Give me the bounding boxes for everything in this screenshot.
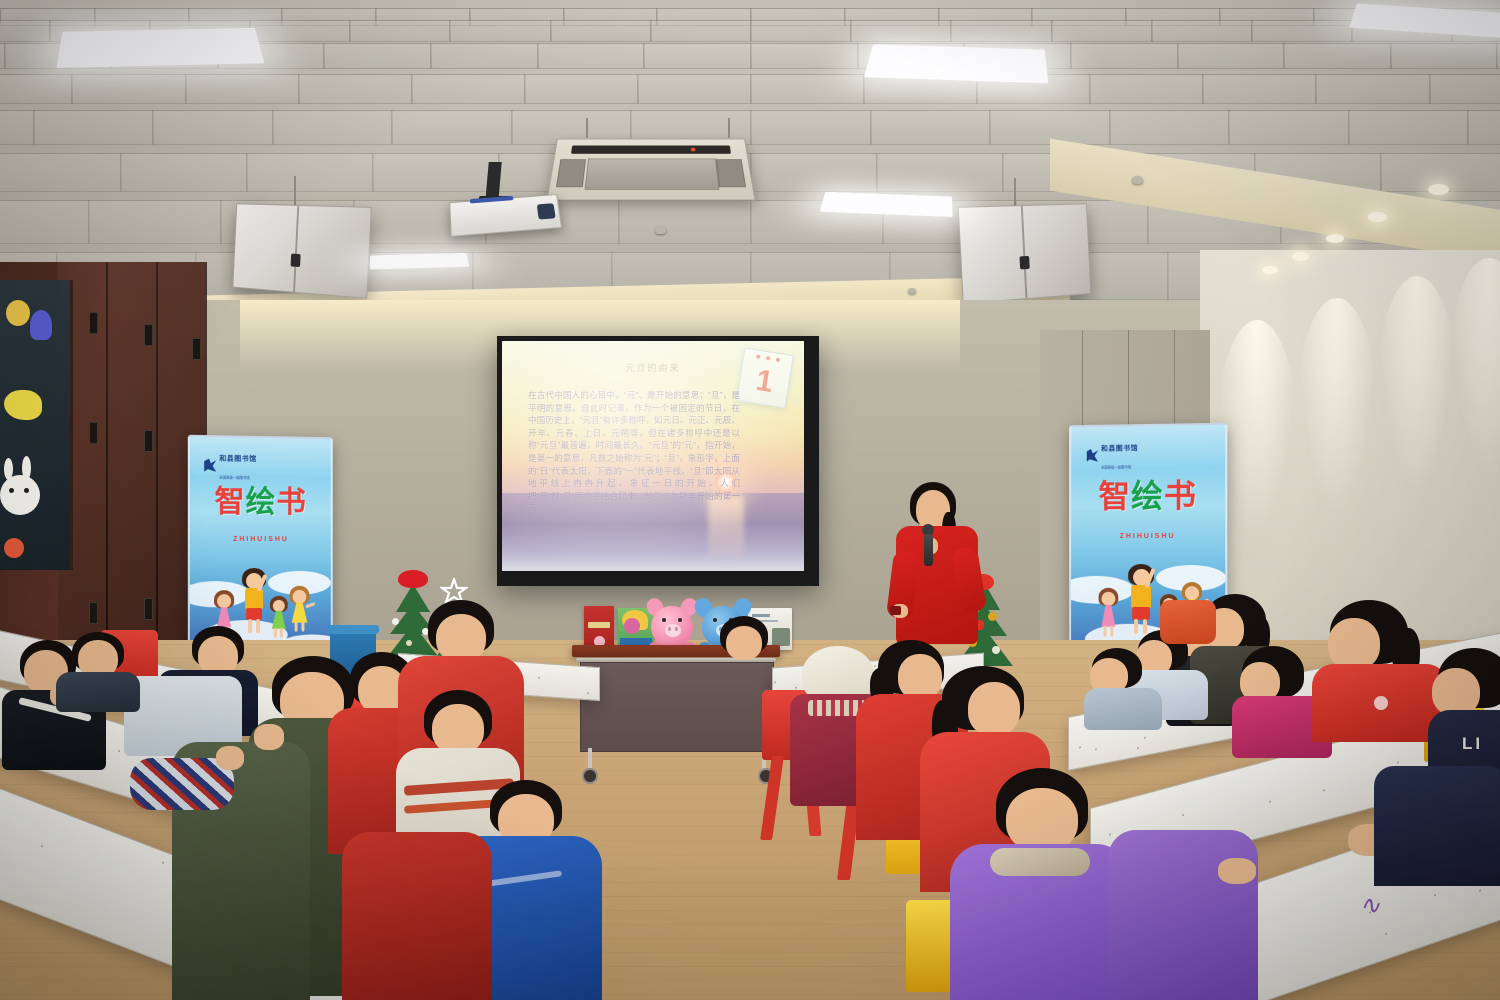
rkid2-shirt <box>1131 585 1151 609</box>
banner-left-char2: 绘 <box>246 486 277 519</box>
child-left-3 <box>124 646 244 756</box>
ceiling-tile <box>1070 43 1179 70</box>
plush-toy-pink <box>645 598 699 652</box>
kid1-head <box>217 594 231 608</box>
child-right-9-hood-orange <box>1160 600 1216 644</box>
banner-right-library-name: 和县图书馆 <box>1101 445 1138 452</box>
child-left-9-head <box>432 704 484 754</box>
child-left-6-hand <box>216 746 244 770</box>
ceiling-tile <box>550 20 652 42</box>
banner-right-char3: 书 <box>1164 477 1197 513</box>
plush-pink-eye-left <box>662 618 666 622</box>
child-center-rear-1 <box>700 616 790 686</box>
child-right-4-head <box>1328 618 1380 670</box>
ac-vane-right <box>716 159 746 187</box>
ceiling-tile <box>750 153 878 192</box>
display-book-red-band <box>588 622 610 628</box>
downlight-1 <box>1262 266 1278 274</box>
ac-vane-left <box>556 159 586 187</box>
ceiling-tile <box>1496 43 1500 70</box>
table-surface-mark <box>118 750 120 753</box>
table-surface-mark <box>1079 747 1081 749</box>
banner-left-char3: 书 <box>276 486 307 519</box>
ceiling-tile <box>0 110 35 145</box>
downlight-3 <box>1326 234 1344 243</box>
smoke-detector-2 <box>1132 176 1143 184</box>
ceiling-tile <box>537 43 646 70</box>
ceiling-tile <box>0 200 90 244</box>
kid4-leg-left <box>295 622 298 632</box>
ceiling-tile <box>643 43 752 70</box>
child-center-4-head <box>1006 788 1078 852</box>
table-surface-mark <box>41 845 43 848</box>
child-right-8-jacket <box>1084 688 1162 730</box>
child-left-8-head <box>436 614 486 662</box>
flower-decal <box>4 538 24 558</box>
ceiling-tile <box>249 20 351 42</box>
activity-room-photo: 1 元旦的由来 在古代中国人的心目中，“元”、是开始的意思；“旦”，是平明的意思… <box>0 0 1500 1000</box>
rkid1-dress <box>1102 605 1116 627</box>
kid4-head <box>293 590 307 604</box>
downlight-5 <box>1428 184 1449 195</box>
child-right-8 <box>1084 648 1162 728</box>
ceiling-light-panel-4 <box>370 253 470 269</box>
ceiling-tile <box>650 20 752 42</box>
speaker-right-seam <box>1021 206 1028 298</box>
ceiling-tile <box>1177 43 1286 70</box>
ceiling-tile <box>1467 110 1500 145</box>
ceiling-tile <box>750 20 852 42</box>
ceiling-tile <box>349 20 451 42</box>
display-book-green-circle <box>624 618 640 634</box>
table-surface-mark <box>1137 747 1139 749</box>
banner-left-char1: 智 <box>215 486 246 519</box>
table-surface-mark <box>1434 894 1436 897</box>
ceiling-tile <box>185 74 300 105</box>
ceiling-tile <box>1390 43 1499 70</box>
ceiling-tile <box>372 153 500 192</box>
library-logo-icon <box>1086 449 1098 462</box>
ceiling-tile <box>1251 20 1353 42</box>
glass-display-case <box>0 280 73 570</box>
ceiling-tile <box>524 74 639 105</box>
rkid1-leg-right <box>1110 626 1113 637</box>
ceiling-tile <box>1315 74 1430 105</box>
partition-hinge-7 <box>192 338 201 360</box>
ceiling-tile <box>152 110 274 145</box>
table-surface-mark <box>1095 748 1097 750</box>
ceiling-tile <box>0 153 122 192</box>
speaker-right-connector <box>1019 256 1029 270</box>
ceiling-tile <box>246 153 374 192</box>
banner-right-char1: 智 <box>1099 478 1132 514</box>
ceiling-tile <box>1429 74 1500 105</box>
banner-left-library-name: 和县图书馆 <box>219 455 256 463</box>
microphone-body <box>924 534 933 566</box>
rkid1-leg-left <box>1103 626 1106 637</box>
wall-light-pool-3 <box>1378 276 1456 486</box>
partition-hinge-1 <box>89 312 98 334</box>
child-left-5-hand <box>254 724 284 750</box>
banner-right-library-tagline: 全国县级一级图书馆 <box>1101 465 1131 469</box>
wall-light-pool-4 <box>1450 258 1500 468</box>
ceiling-tile <box>120 153 248 192</box>
ceiling-tile <box>637 74 752 105</box>
ceiling-tile <box>0 20 51 42</box>
ceiling-tile <box>391 110 513 145</box>
speaker-right <box>958 203 1092 304</box>
ceiling-tile <box>1348 110 1470 145</box>
table-surface-mark <box>1385 933 1387 936</box>
ceiling-ac-cassette <box>546 139 755 201</box>
child-right-5-head <box>1432 668 1480 716</box>
kid3-leg-right <box>280 628 283 638</box>
kid3-dress <box>272 611 286 629</box>
partition-hinge-4 <box>144 324 153 346</box>
ceiling-tile <box>272 110 394 145</box>
kid4-arm <box>305 602 315 608</box>
downlight-4 <box>1368 212 1387 222</box>
bunny-ear-left-decal <box>4 458 13 480</box>
ceiling-light-panel-1 <box>57 28 265 68</box>
table-surface-mark <box>162 861 164 864</box>
ceiling-tile <box>323 43 432 70</box>
projector-hotspot-glare <box>502 341 804 571</box>
child-left-12 <box>56 632 140 712</box>
banner-left-title: 智绘书 <box>190 486 331 519</box>
child-left-6 <box>130 758 240 818</box>
banner-right-pinyin: ZHIHUISHU <box>1071 533 1225 540</box>
ceiling-tile <box>88 200 222 244</box>
speaker-left <box>232 203 372 298</box>
plush-pink-nostril-left <box>668 627 671 631</box>
child-center-5 <box>1108 830 1258 1000</box>
ceiling-tile <box>850 20 952 42</box>
partition-hinge-6 <box>144 598 153 620</box>
lemon-decal <box>4 390 42 420</box>
ceiling-light-panel-2 <box>864 44 1048 83</box>
ac-center-panel <box>585 158 720 189</box>
child-right-6-sleeve <box>1374 766 1500 886</box>
ac-hanger-rod-left <box>586 118 588 138</box>
table-surface-mark <box>1269 800 1271 803</box>
ceiling-tile <box>870 110 992 145</box>
ceiling-tile <box>430 43 539 70</box>
ceiling-tile <box>750 43 859 70</box>
ceiling-tile <box>1051 20 1153 42</box>
ac-hanger-rod-right <box>728 118 730 138</box>
smoke-detector-1 <box>655 226 666 234</box>
presenter-clicker-remote <box>890 606 901 615</box>
child-left-12-jacket <box>56 672 140 712</box>
chair-red-4-leg-1 <box>760 756 784 840</box>
child-right-6 <box>1348 766 1500 886</box>
table-surface-mark <box>587 692 589 694</box>
bunny-decal <box>0 475 40 515</box>
speaker-right-rod <box>1014 178 1016 208</box>
table-surface-mark <box>1323 789 1325 792</box>
partition-hinge-2 <box>89 422 98 444</box>
ceiling-tile <box>0 74 73 105</box>
bunny-eye-right-decal <box>24 488 29 493</box>
table-surface-mark <box>1397 761 1399 764</box>
kid2-shirt <box>245 588 263 610</box>
kid3-head <box>273 600 285 612</box>
speaker-left-connector <box>291 254 301 268</box>
child-right-5-jacket-text: LI <box>1462 734 1500 754</box>
ceiling-tile <box>449 20 551 42</box>
projector-lens <box>537 203 556 219</box>
ceiling-tile <box>71 74 186 105</box>
table-surface-mark <box>538 677 540 679</box>
ceiling-tile <box>618 200 752 244</box>
banner-left-library-tagline: 全国县级一级图书馆 <box>219 475 250 479</box>
banner-right-char2: 绘 <box>1131 477 1164 513</box>
kid3-leg-left <box>274 628 277 638</box>
plush-pink-nostril-right <box>675 627 678 631</box>
ceiling-tile <box>1228 110 1350 145</box>
child-left-11 <box>342 832 492 1000</box>
ceiling-tile <box>298 74 413 105</box>
partition-hinge-5 <box>144 430 153 452</box>
ceiling-tile <box>1283 43 1392 70</box>
child-center-4 <box>950 768 1130 1000</box>
kid4-leg-right <box>301 622 304 632</box>
child-center-5-hand <box>1218 858 1256 884</box>
speaker-left-seam <box>293 206 299 292</box>
wall-light-pool-2 <box>1298 298 1376 508</box>
table-marker-scribble: ∿ <box>1359 887 1385 923</box>
banner-left-pinyin: ZHIHUISHU <box>190 536 331 543</box>
plush-pink-snout <box>665 624 681 637</box>
ceiling-tile <box>1089 74 1204 105</box>
bunny-ear-right-decal <box>22 456 31 480</box>
ceiling-tile <box>1109 110 1231 145</box>
banner-right-title: 智绘书 <box>1071 479 1225 512</box>
ceiling-tile <box>33 110 155 145</box>
sun-decal <box>6 300 30 326</box>
table-surface-mark <box>1182 814 1184 817</box>
storage-bin-lid <box>327 625 379 634</box>
child-center-rear-1-head <box>726 626 762 660</box>
ceiling-tile <box>750 74 865 105</box>
table-surface-mark <box>1479 889 1481 892</box>
ceiling-tile <box>750 110 872 145</box>
banner-right-logo: 和县图书馆 全国县级一级图书馆 <box>1086 437 1138 473</box>
child-right-9 <box>1160 600 1220 656</box>
projection-screen-surface: 1 元旦的由来 在古代中国人的心目中，“元”、是开始的意思；“旦”，是平明的意思… <box>502 341 804 571</box>
downlight-2 <box>1292 252 1309 261</box>
ac-grille <box>571 145 731 153</box>
child-right-4-logo-badge <box>1374 696 1388 710</box>
bunny-eye-left-decal <box>9 488 14 493</box>
wall-light-pool-1 <box>1218 320 1296 530</box>
ceiling-tile <box>411 74 526 105</box>
table-surface-mark <box>1144 737 1146 739</box>
smoke-detector-3 <box>908 288 916 294</box>
child-center-4-fur-collar <box>990 848 1090 876</box>
kid1-dress <box>217 607 231 627</box>
ceiling-tile <box>950 20 1052 42</box>
plush-pink-eye-right <box>678 618 682 622</box>
partition-hinge-3 <box>89 602 98 624</box>
library-logo-icon <box>204 459 216 472</box>
child-center-3-head <box>968 682 1020 736</box>
banner-left-logo: 和县图书馆 全国县级一级图书馆 <box>204 447 257 484</box>
ceiling-tile <box>1151 20 1253 42</box>
ac-status-led <box>691 148 696 152</box>
child-left-11-jacket <box>342 832 492 1000</box>
speaker-left-rod <box>294 176 296 208</box>
blue-shape-decal <box>30 310 52 340</box>
child-center-5-jacket-purple <box>1108 830 1258 1000</box>
projection-screen: 1 元旦的由来 在古代中国人的心目中，“元”、是开始的意思；“旦”，是平明的意思… <box>497 336 819 586</box>
rkid1-head <box>1102 592 1116 606</box>
ceiling-tile <box>1202 74 1317 105</box>
ceiling-tile <box>876 153 1004 192</box>
